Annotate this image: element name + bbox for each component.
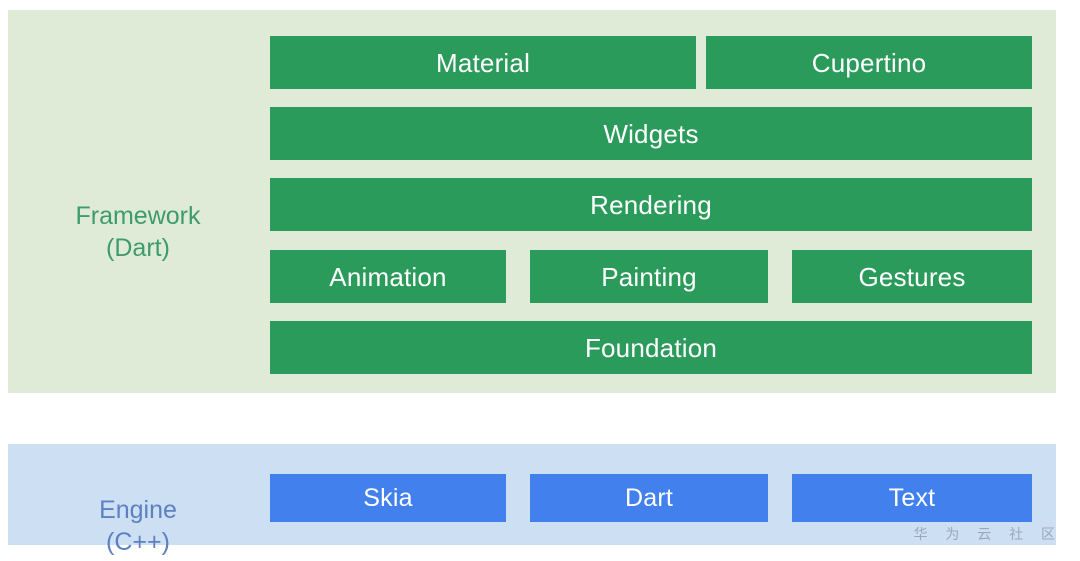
framework-layer-label: Framework (Dart) [22,168,254,296]
box-dart[interactable]: Dart [530,474,768,522]
framework-label-line-1: Framework [75,202,200,230]
box-text[interactable]: Text [792,474,1032,522]
box-gap [696,36,706,89]
box-widgets[interactable]: Widgets [270,107,1032,160]
framework-row-widgets: Widgets [270,107,1032,160]
box-painting[interactable]: Painting [530,250,768,303]
framework-row-material: Material Cupertino [270,36,1032,89]
framework-row-rendering: Rendering [270,178,1032,231]
box-gestures[interactable]: Gestures [792,250,1032,303]
box-gap [768,474,792,522]
engine-label-line-1: Engine [99,496,177,524]
framework-label-line-2: (Dart) [22,232,254,264]
box-rendering[interactable]: Rendering [270,178,1032,231]
box-material[interactable]: Material [270,36,696,89]
engine-layer-label: Engine (C++) [22,462,254,561]
box-gap [768,250,792,303]
flutter-architecture-diagram: Framework (Dart) Material Cupertino Widg… [0,0,1080,561]
box-cupertino[interactable]: Cupertino [706,36,1032,89]
box-foundation[interactable]: Foundation [270,321,1032,374]
watermark-text: 华 为 云 社 区 [913,524,1062,544]
engine-label-line-2: (C++) [22,526,254,558]
box-gap [506,474,530,522]
engine-row-components: Skia Dart Text [270,474,1032,522]
box-animation[interactable]: Animation [270,250,506,303]
framework-row-foundation: Foundation [270,321,1032,374]
framework-row-animation: Animation Painting Gestures [270,250,1032,303]
box-skia[interactable]: Skia [270,474,506,522]
box-gap [506,250,530,303]
